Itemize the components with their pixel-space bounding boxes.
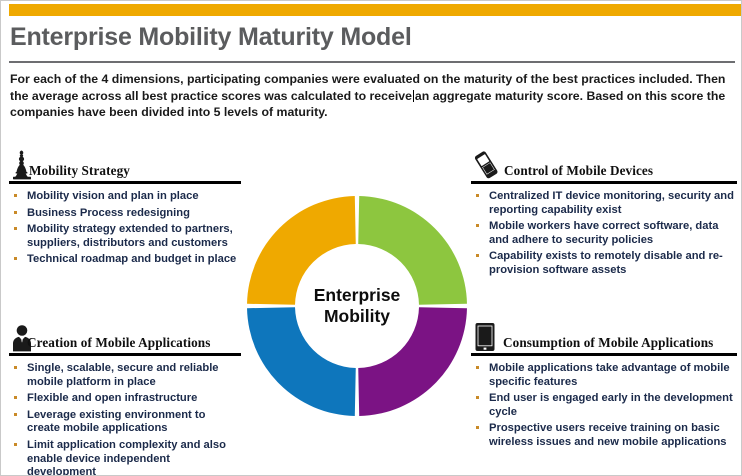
tablet-icon xyxy=(471,322,497,352)
list-item-label: Mobility vision and plan in place xyxy=(27,190,199,202)
section-header: Control of Mobile Devices xyxy=(471,151,737,181)
bullet-dot-icon xyxy=(476,254,479,257)
bullet-dot-icon xyxy=(14,366,17,369)
list-item-label: Capability exists to remotely disable an… xyxy=(489,250,723,276)
list-item: Capability exists to remotely disable an… xyxy=(471,250,737,277)
section-divider xyxy=(9,181,241,184)
list-item: Mobile workers have correct software, da… xyxy=(471,220,737,247)
section-divider xyxy=(471,353,737,356)
text-caret-icon xyxy=(413,90,414,102)
list-item: End user is engaged early in the develop… xyxy=(471,392,737,419)
list-item-label: Leverage existing environment to create … xyxy=(27,409,205,435)
bullet-dot-icon xyxy=(476,194,479,197)
list-item-label: Mobile applications take advantage of mo… xyxy=(489,362,730,388)
bullet-dot-icon xyxy=(14,443,17,446)
donut-segment-0[interactable] xyxy=(247,196,356,305)
list-item-label: Technical roadmap and budget in place xyxy=(27,253,236,265)
list-item: Technical roadmap and budget in place xyxy=(9,253,241,267)
list-item: Flexible and open infrastructure xyxy=(9,392,241,406)
bullet-dot-icon xyxy=(476,426,479,429)
bullet-dot-icon xyxy=(476,366,479,369)
section-title: Consumption of Mobile Applications xyxy=(503,335,713,351)
list-item: Limit application complexity and also en… xyxy=(9,439,241,476)
list-item-label: Business Process redesigning xyxy=(27,207,190,219)
bullet-dot-icon xyxy=(476,224,479,227)
bullet-list: Centralized IT device monitoring, securi… xyxy=(471,190,737,278)
list-item-label: End user is engaged early in the develop… xyxy=(489,392,733,418)
list-item: Single, scalable, secure and reliable mo… xyxy=(9,362,241,389)
list-item-label: Mobility strategy extended to partners, … xyxy=(27,223,233,249)
section-creation-of-mobile-applications: Creation of Mobile Applications Single, … xyxy=(9,323,241,476)
title-divider xyxy=(9,61,735,63)
bullet-dot-icon xyxy=(14,194,17,197)
bullet-dot-icon xyxy=(476,396,479,399)
enterprise-mobility-donut-chart: Enterprise Mobility xyxy=(245,194,469,418)
section-title: Mobility Strategy xyxy=(29,163,130,179)
bullet-list: Mobility vision and plan in place Busine… xyxy=(9,190,241,267)
donut-segment-1[interactable] xyxy=(247,307,356,416)
bullet-list: Single, scalable, secure and reliable mo… xyxy=(9,362,241,476)
list-item: Mobility strategy extended to partners, … xyxy=(9,223,241,250)
bullet-dot-icon xyxy=(14,413,17,416)
section-mobility-strategy: Mobility Strategy Mobility vision and pl… xyxy=(9,151,241,270)
bullet-dot-icon xyxy=(14,211,17,214)
smartphone-icon xyxy=(471,150,497,180)
page-title: Enterprise Mobility Maturity Model xyxy=(10,23,412,52)
section-header: Consumption of Mobile Applications xyxy=(471,323,737,353)
list-item-label: Single, scalable, secure and reliable mo… xyxy=(27,362,219,388)
list-item: Business Process redesigning xyxy=(9,207,241,221)
section-header: Creation of Mobile Applications xyxy=(9,323,241,353)
section-divider xyxy=(471,181,737,184)
list-item-label: Prospective users receive training on ba… xyxy=(489,422,727,448)
section-consumption-of-mobile-applications: Consumption of Mobile Applications Mobil… xyxy=(471,323,737,453)
list-item-label: Mobile workers have correct software, da… xyxy=(489,220,718,246)
list-item-label: Limit application complexity and also en… xyxy=(27,439,226,476)
list-item-label: Flexible and open infrastructure xyxy=(27,392,197,404)
section-divider xyxy=(9,353,241,356)
accent-bar xyxy=(9,4,741,16)
intro-paragraph: For each of the 4 dimensions, participat… xyxy=(10,71,733,121)
bullet-list: Mobile applications take advantage of mo… xyxy=(471,362,737,450)
list-item-label: Centralized IT device monitoring, securi… xyxy=(489,190,734,216)
list-item: Mobile applications take advantage of mo… xyxy=(471,362,737,389)
section-title: Control of Mobile Devices xyxy=(504,163,653,179)
section-title: Creation of Mobile Applications xyxy=(27,335,210,351)
donut-segment-3[interactable] xyxy=(358,196,467,305)
bullet-dot-icon xyxy=(14,227,17,230)
bullet-dot-icon xyxy=(14,257,17,260)
slide-canvas: Enterprise Mobility Maturity Model For e… xyxy=(0,0,742,476)
donut-segment-2[interactable] xyxy=(358,307,467,416)
bullet-dot-icon xyxy=(14,396,17,399)
list-item: Leverage existing environment to create … xyxy=(9,409,241,436)
section-header: Mobility Strategy xyxy=(9,151,241,181)
list-item: Mobility vision and plan in place xyxy=(9,190,241,204)
list-item: Prospective users receive training on ba… xyxy=(471,422,737,449)
list-item: Centralized IT device monitoring, securi… xyxy=(471,190,737,217)
section-control-of-mobile-devices: Control of Mobile Devices Centralized IT… xyxy=(471,151,737,281)
